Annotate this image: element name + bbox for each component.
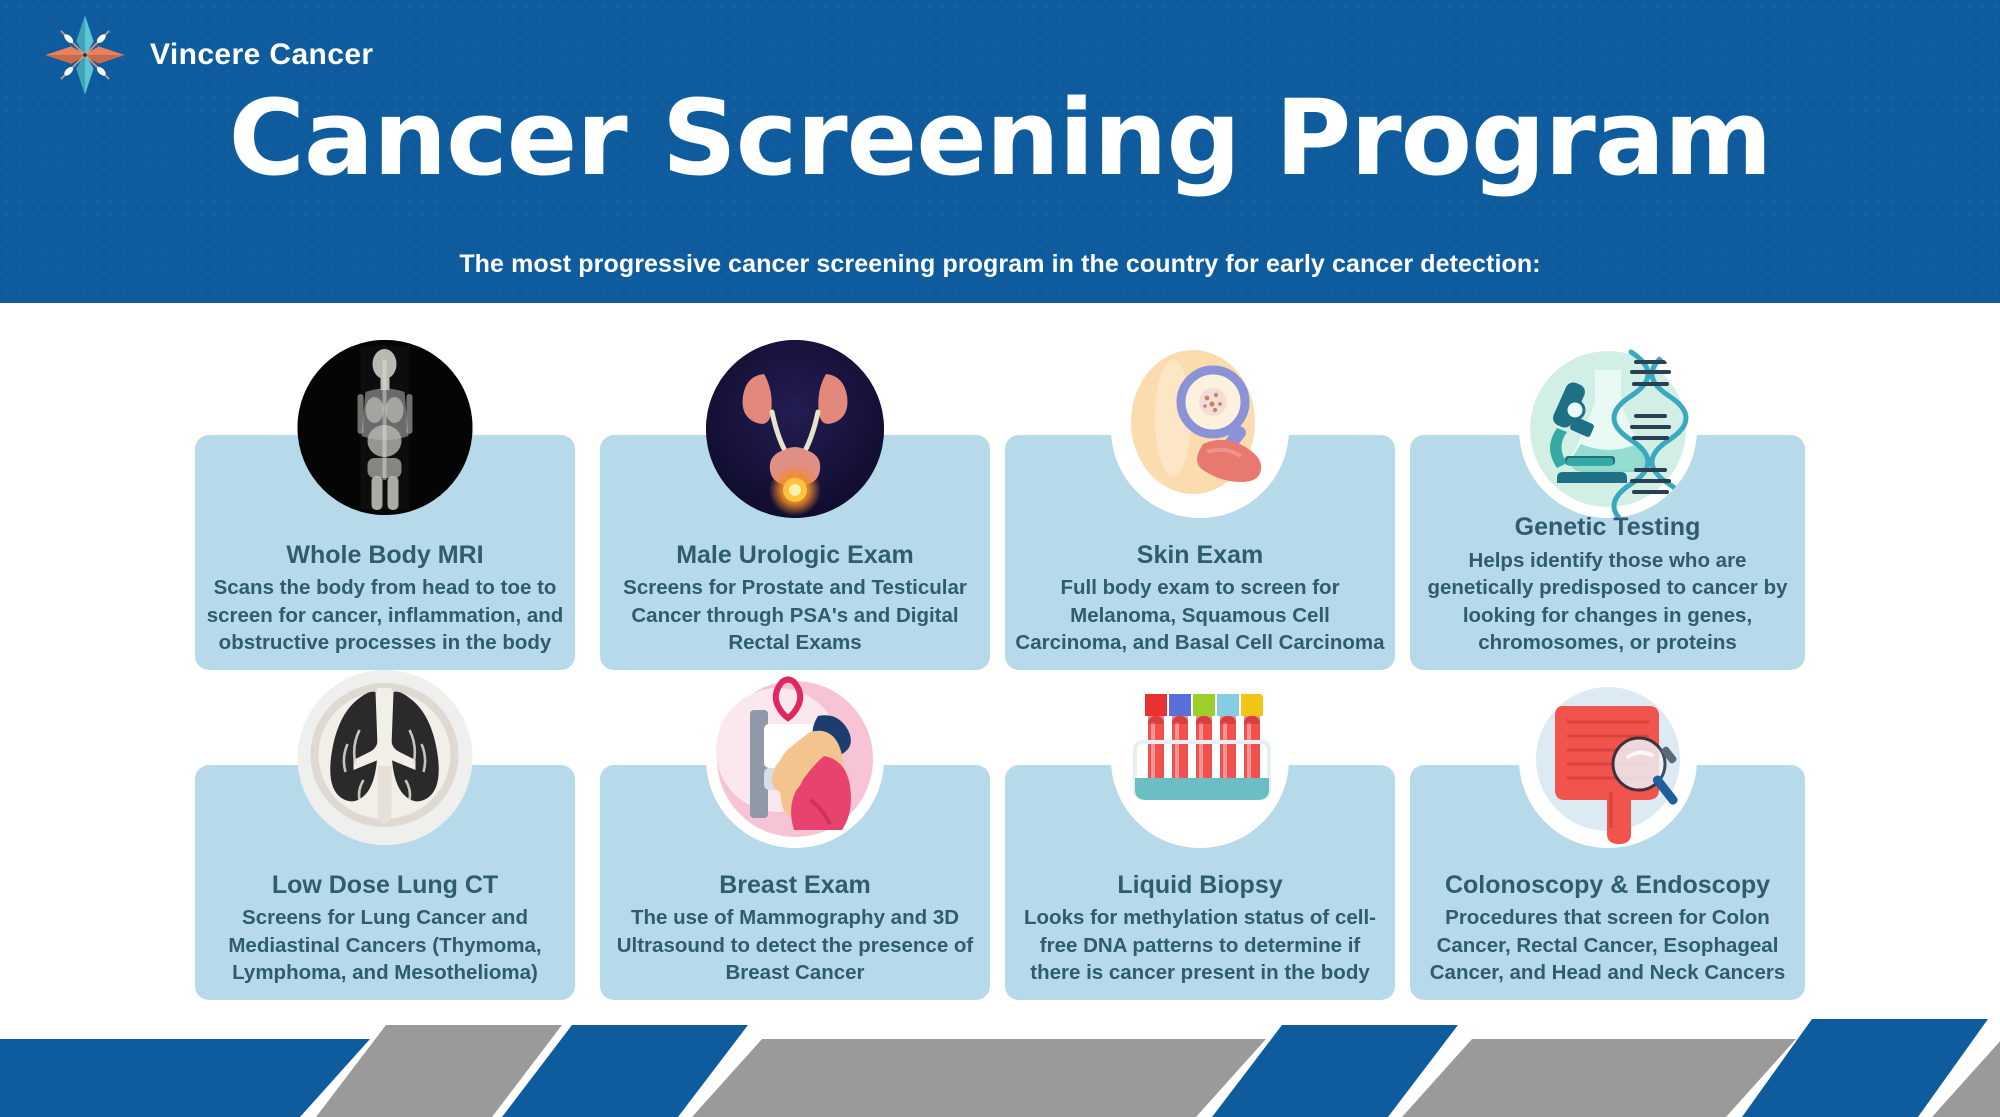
card-title: Liquid Biopsy xyxy=(1015,871,1385,900)
card-text-block: Breast Exam The use of Mammography and 3… xyxy=(600,871,990,987)
card-low-dose-lung-ct[interactable]: Low Dose Lung CT Screens for Lung Cancer… xyxy=(195,765,575,1000)
card-title: Low Dose Lung CT xyxy=(205,871,565,900)
card-skin-exam[interactable]: Skin Exam Full body exam to screen for M… xyxy=(1005,435,1395,670)
footer-stripe-band xyxy=(0,1011,2000,1117)
brand-name: Vincere Cancer xyxy=(150,38,374,72)
lung-ct-scan-image-icon xyxy=(298,670,473,845)
card-title: Male Urologic Exam xyxy=(610,541,980,570)
card-text-block: Male Urologic Exam Screens for Prostate … xyxy=(600,541,990,657)
page-subtitle: The most progressive cancer screening pr… xyxy=(0,250,2000,279)
urinary-tract-image-icon xyxy=(706,340,884,518)
card-description: The use of Mammography and 3D Ultrasound… xyxy=(610,904,980,986)
mri-scan-image-icon xyxy=(298,340,473,515)
card-liquid-biopsy[interactable]: Liquid Biopsy Looks for methylation stat… xyxy=(1005,765,1395,1000)
card-title: Skin Exam xyxy=(1015,541,1385,570)
screening-card-grid: Whole Body MRI Scans the body from head … xyxy=(0,303,2000,1015)
card-breast-exam[interactable]: Breast Exam The use of Mammography and 3… xyxy=(600,765,990,1000)
card-title: Genetic Testing xyxy=(1420,513,1795,542)
header-banner: Vincere Cancer Cancer Screening Program … xyxy=(0,0,2000,303)
card-description: Screens for Prostate and Testicular Canc… xyxy=(610,574,980,656)
card-title: Colonoscopy & Endoscopy xyxy=(1420,871,1795,900)
infographic-page: Vincere Cancer Cancer Screening Program … xyxy=(0,0,2000,1117)
card-description: Helps identify those who are genetically… xyxy=(1420,547,1795,656)
page-title: Cancer Screening Program xyxy=(0,85,2000,191)
card-title: Breast Exam xyxy=(610,871,980,900)
magnifier-on-skin-image-icon xyxy=(1111,340,1289,518)
card-text-block: Genetic Testing Helps identify those who… xyxy=(1410,513,1805,656)
mammography-image-icon xyxy=(706,670,884,848)
card-description: Looks for methylation status of cell-fre… xyxy=(1015,904,1385,986)
card-male-urologic-exam[interactable]: Male Urologic Exam Screens for Prostate … xyxy=(600,435,990,670)
card-description: Screens for Lung Cancer and Mediastinal … xyxy=(205,904,565,986)
microscope-dna-image-icon xyxy=(1519,340,1697,518)
card-text-block: Low Dose Lung CT Screens for Lung Cancer… xyxy=(195,871,575,987)
card-title: Whole Body MRI xyxy=(205,541,565,570)
card-description: Procedures that screen for Colon Cancer,… xyxy=(1420,904,1795,986)
card-text-block: Colonoscopy & Endoscopy Procedures that … xyxy=(1410,871,1805,987)
card-text-block: Whole Body MRI Scans the body from head … xyxy=(195,541,575,657)
card-genetic-testing[interactable]: Genetic Testing Helps identify those who… xyxy=(1410,435,1805,670)
card-colonoscopy-endoscopy[interactable]: Colonoscopy & Endoscopy Procedures that … xyxy=(1410,765,1805,1000)
colon-magnifier-image-icon xyxy=(1519,670,1697,848)
card-whole-body-mri[interactable]: Whole Body MRI Scans the body from head … xyxy=(195,435,575,670)
card-text-block: Skin Exam Full body exam to screen for M… xyxy=(1005,541,1395,657)
card-description: Full body exam to screen for Melanoma, S… xyxy=(1015,574,1385,656)
card-text-block: Liquid Biopsy Looks for methylation stat… xyxy=(1005,871,1395,987)
blood-test-tubes-image-icon xyxy=(1111,670,1289,848)
card-description: Scans the body from head to toe to scree… xyxy=(205,574,565,656)
